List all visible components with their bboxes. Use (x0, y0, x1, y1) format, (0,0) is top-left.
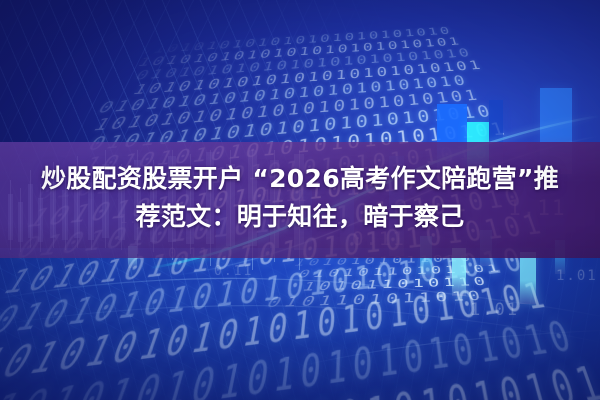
numeric-overlay-label: 0.11 (214, 264, 253, 279)
headline-line-1: 炒股配资股票开户 “2026高考作文陪跑营”推 (41, 164, 559, 193)
headline-line-2: 荐范文：明于知往，暗于察己 (0, 198, 600, 236)
headline: 炒股配资股票开户 “2026高考作文陪跑营”推 荐范文：明于知往，暗于察己 (0, 160, 600, 236)
numeric-overlay-label: 1.01 (556, 268, 598, 284)
banner-image: 0101010101010101010101010101010101010101… (0, 0, 600, 400)
numeric-overlay-label: 1.01 (470, 300, 519, 320)
